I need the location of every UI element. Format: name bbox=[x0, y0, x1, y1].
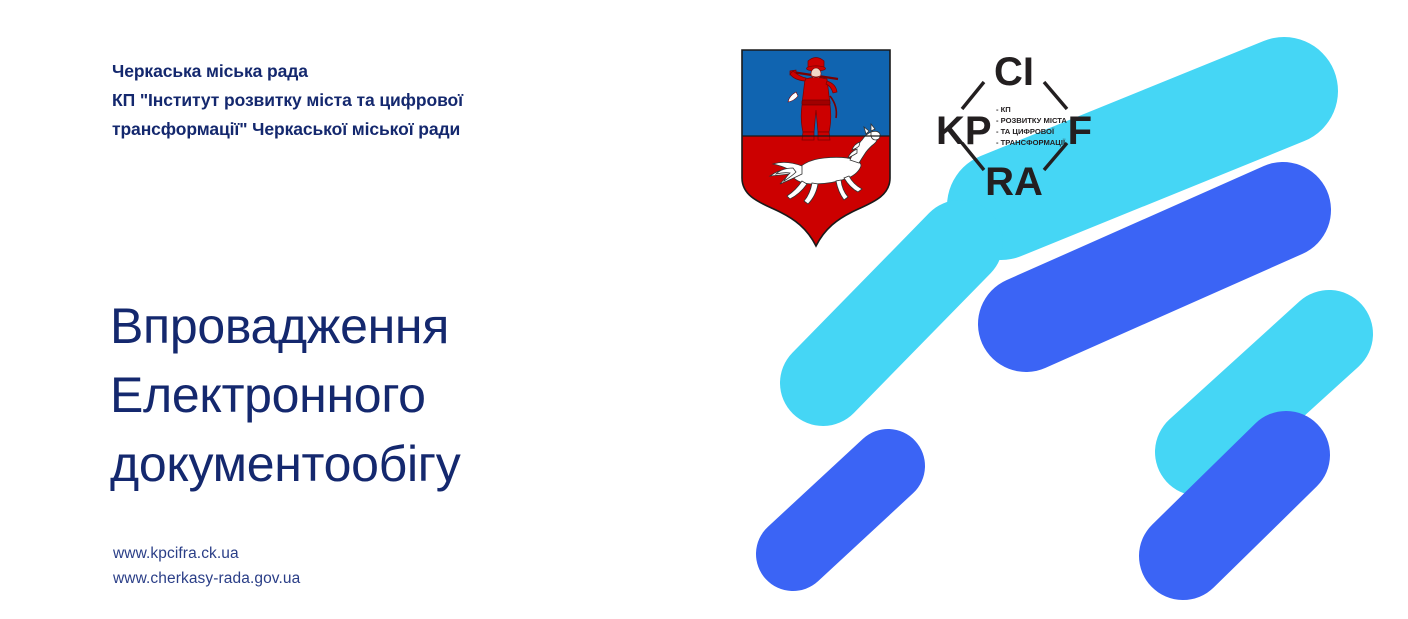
organization-line-1: Черкаська міська рада bbox=[112, 57, 652, 86]
organization-line-2: КП "Інститут розвитку міста та цифрової bbox=[112, 86, 652, 115]
capsule-shape-5 bbox=[793, 466, 888, 554]
presentation-slide: Черкаська міська рада КП "Інститут розви… bbox=[0, 0, 1408, 619]
cherkasy-coat-of-arms bbox=[740, 48, 892, 248]
title-line-1: Впровадження bbox=[110, 292, 630, 361]
page-title: Впровадження Електронного документообігу bbox=[110, 292, 630, 499]
shield-fields bbox=[740, 48, 892, 248]
capsule-shape-4 bbox=[1199, 334, 1329, 452]
capsule-shape-6 bbox=[1183, 455, 1286, 556]
logo-letters-ci: CI bbox=[994, 52, 1034, 94]
capsule-shape-2 bbox=[1026, 210, 1283, 324]
link-kpcifra[interactable]: www.kpcifra.ck.ua bbox=[113, 541, 300, 566]
title-line-2: Електронного bbox=[110, 361, 630, 430]
organization-line-3: трансформації" Черкаської міської ради bbox=[112, 115, 652, 144]
logo-letters-kp: KP bbox=[936, 109, 992, 153]
organization-heading: Черкаська міська рада КП "Інститут розви… bbox=[112, 57, 652, 144]
kpcifra-logo: CI KP F RA - КП - РОЗВИТКУ МІСТА - ТА ЦИ… bbox=[922, 52, 1106, 200]
logo-letters-f: F bbox=[1068, 109, 1092, 153]
capsule-shape-3 bbox=[823, 243, 960, 383]
logo-center-line-3: - ТА ЦИФРОВОЇ bbox=[996, 127, 1055, 136]
logo-center-line-2: - РОЗВИТКУ МІСТА bbox=[996, 116, 1067, 125]
title-line-3: документообігу bbox=[110, 430, 630, 499]
logo-center-line-1: - КП bbox=[996, 105, 1011, 114]
logo-center-text: - КП - РОЗВИТКУ МІСТА - ТА ЦИФРОВОЇ - ТР… bbox=[996, 105, 1067, 147]
website-links: www.kpcifra.ck.ua www.cherkasy-rada.gov.… bbox=[113, 541, 300, 591]
logo-letters-ra: RA bbox=[985, 160, 1043, 200]
link-cherkasy-rada[interactable]: www.cherkasy-rada.gov.ua bbox=[113, 566, 300, 591]
logo-center-line-4: - ТРАНСФОРМАЦІЇ bbox=[996, 138, 1066, 147]
